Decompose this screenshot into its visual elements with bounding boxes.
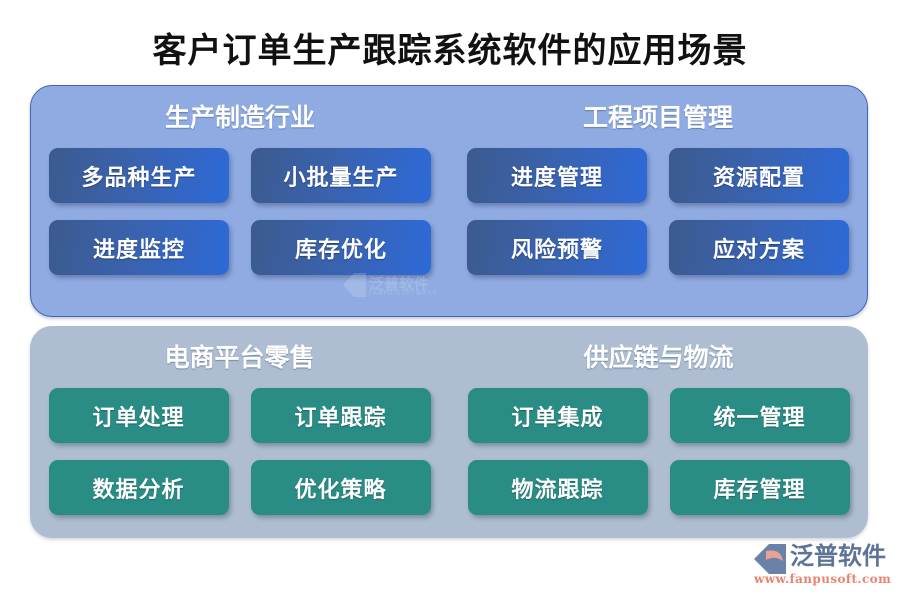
page-title: 客户订单生产跟踪系统软件的应用场景 <box>0 30 900 72</box>
panel-bottom: 电商平台零售 订单处理 订单跟踪 数据分析 优化策略 供应链与物流 <box>30 326 868 538</box>
chip-label: 库存管理 <box>713 472 805 504</box>
chip-label: 物流跟踪 <box>511 472 603 504</box>
chip-label: 数据分析 <box>92 472 184 504</box>
chip-response-plan[interactable]: 应对方案 <box>669 220 849 275</box>
brand-logo-url: www.fanpusoft.com <box>754 572 891 586</box>
section-ecommerce-retail: 电商平台零售 订单处理 订单跟踪 数据分析 优化策略 <box>30 326 449 538</box>
chip-logistics-tracking[interactable]: 物流跟踪 <box>468 460 648 515</box>
section-title-engineering-project: 工程项目管理 <box>449 102 867 134</box>
panel-top: 生产制造行业 多品种生产 小批量生产 进度监控 库存优化 工程项目管理 <box>30 85 868 317</box>
chip-order-processing[interactable]: 订单处理 <box>49 388 229 443</box>
chip-grid-supply-chain-logistics: 订单集成 统一管理 物流跟踪 库存管理 <box>449 388 868 515</box>
chip-resource-allocation[interactable]: 资源配置 <box>669 148 849 203</box>
section-title-manufacturing: 生产制造行业 <box>31 102 449 134</box>
section-title-supply-chain-logistics: 供应链与物流 <box>449 342 868 374</box>
chip-grid-engineering-project: 进度管理 资源配置 风险预警 应对方案 <box>449 148 867 275</box>
section-title-ecommerce-retail: 电商平台零售 <box>30 342 449 374</box>
chip-progress-monitoring[interactable]: 进度监控 <box>49 220 229 275</box>
chip-label: 应对方案 <box>713 232 805 264</box>
chip-label: 多品种生产 <box>81 160 196 192</box>
chip-risk-warning[interactable]: 风险预警 <box>467 220 647 275</box>
chip-label: 订单处理 <box>92 400 184 432</box>
chip-label: 进度监控 <box>93 232 185 264</box>
chip-label: 统一管理 <box>713 400 805 432</box>
chip-label: 库存优化 <box>295 232 387 264</box>
chip-order-integration[interactable]: 订单集成 <box>468 388 648 443</box>
brand-logo[interactable]: 泛普软件 www.fanpusoft.com <box>752 542 890 590</box>
chip-label: 订单跟踪 <box>294 400 386 432</box>
chip-label: 小批量生产 <box>283 160 398 192</box>
chip-unified-management[interactable]: 统一管理 <box>670 388 850 443</box>
chip-inventory-optimization[interactable]: 库存优化 <box>251 220 431 275</box>
chip-small-batch-production[interactable]: 小批量生产 <box>251 148 431 203</box>
section-manufacturing: 生产制造行业 多品种生产 小批量生产 进度监控 库存优化 <box>31 86 449 316</box>
section-engineering-project: 工程项目管理 进度管理 资源配置 风险预警 应对方案 <box>449 86 867 316</box>
diagram-canvas: 客户订单生产跟踪系统软件的应用场景 生产制造行业 多品种生产 小批量生产 进度监… <box>0 0 900 600</box>
chip-label: 进度管理 <box>511 160 603 192</box>
brand-logo-icon <box>752 544 786 574</box>
chip-optimization-strategy[interactable]: 优化策略 <box>251 460 431 515</box>
chip-progress-management[interactable]: 进度管理 <box>467 148 647 203</box>
brand-logo-name: 泛普软件 <box>790 542 886 570</box>
chip-order-tracking[interactable]: 订单跟踪 <box>251 388 431 443</box>
chip-label: 优化策略 <box>294 472 386 504</box>
chip-grid-ecommerce-retail: 订单处理 订单跟踪 数据分析 优化策略 <box>30 388 449 515</box>
chip-label: 订单集成 <box>511 400 603 432</box>
chip-data-analysis[interactable]: 数据分析 <box>49 460 229 515</box>
section-supply-chain-logistics: 供应链与物流 订单集成 统一管理 物流跟踪 库存管理 <box>449 326 868 538</box>
chip-label: 资源配置 <box>713 160 805 192</box>
chip-inventory-management[interactable]: 库存管理 <box>670 460 850 515</box>
chip-label: 风险预警 <box>511 232 603 264</box>
chip-grid-manufacturing: 多品种生产 小批量生产 进度监控 库存优化 <box>31 148 449 275</box>
chip-multi-variety-production[interactable]: 多品种生产 <box>49 148 229 203</box>
